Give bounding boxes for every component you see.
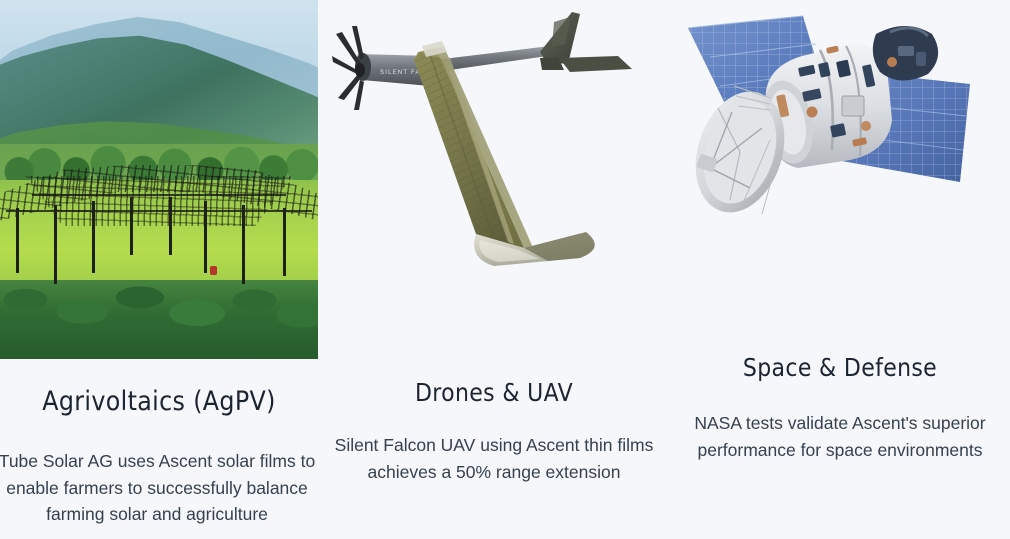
silent-falcon-uav-image: SILENT FALCON UAS: [318, 0, 670, 300]
photo-red-marker: [210, 266, 217, 275]
photo-canopy-post: [16, 208, 19, 273]
satellite-image: [670, 0, 1010, 250]
column-heading-space-defense: Space & Defense: [690, 353, 989, 382]
column-body-space-defense: NASA tests validate Ascent's superior pe…: [672, 410, 1008, 463]
photo-canopy-post: [283, 208, 286, 276]
agrivoltaic-farm-photo: [0, 0, 318, 359]
photo-canopy-post: [54, 205, 57, 284]
column-body-agrivoltaics: Tube Solar AG uses Ascent solar films to…: [0, 448, 320, 528]
satellite-illustration: [670, 0, 1010, 250]
uav-illustration: SILENT FALCON UAS: [318, 0, 670, 300]
photo-canopy-post: [169, 197, 172, 254]
feature-columns-board: Agrivoltaics (AgPV) Tube Solar AG uses A…: [0, 0, 1010, 539]
column-heading-drones-uav: Drones & UAV: [339, 378, 649, 407]
photo-canopy-post: [242, 205, 245, 284]
column-space-defense: Space & Defense NASA tests validate Asce…: [670, 0, 1010, 539]
satellite-aft-module: [873, 26, 938, 81]
column-drones-uav: SILENT FALCON UAS: [318, 0, 670, 539]
photo-solar-canopy-inner: [25, 176, 292, 226]
photo-foreground-crop: [0, 280, 318, 359]
photo-canopy-post: [130, 197, 133, 254]
uav-propeller: [332, 26, 365, 110]
column-heading-agrivoltaics: Agrivoltaics (AgPV): [19, 386, 299, 417]
photo-canopy-rail: [6, 210, 311, 212]
photo-canopy-rail: [32, 194, 286, 196]
photo-canopy-post: [92, 201, 95, 273]
column-body-drones-uav: Silent Falcon UAV using Ascent thin film…: [320, 432, 668, 485]
photo-canopy-post: [204, 201, 207, 273]
column-agrivoltaics: Agrivoltaics (AgPV) Tube Solar AG uses A…: [0, 0, 318, 539]
